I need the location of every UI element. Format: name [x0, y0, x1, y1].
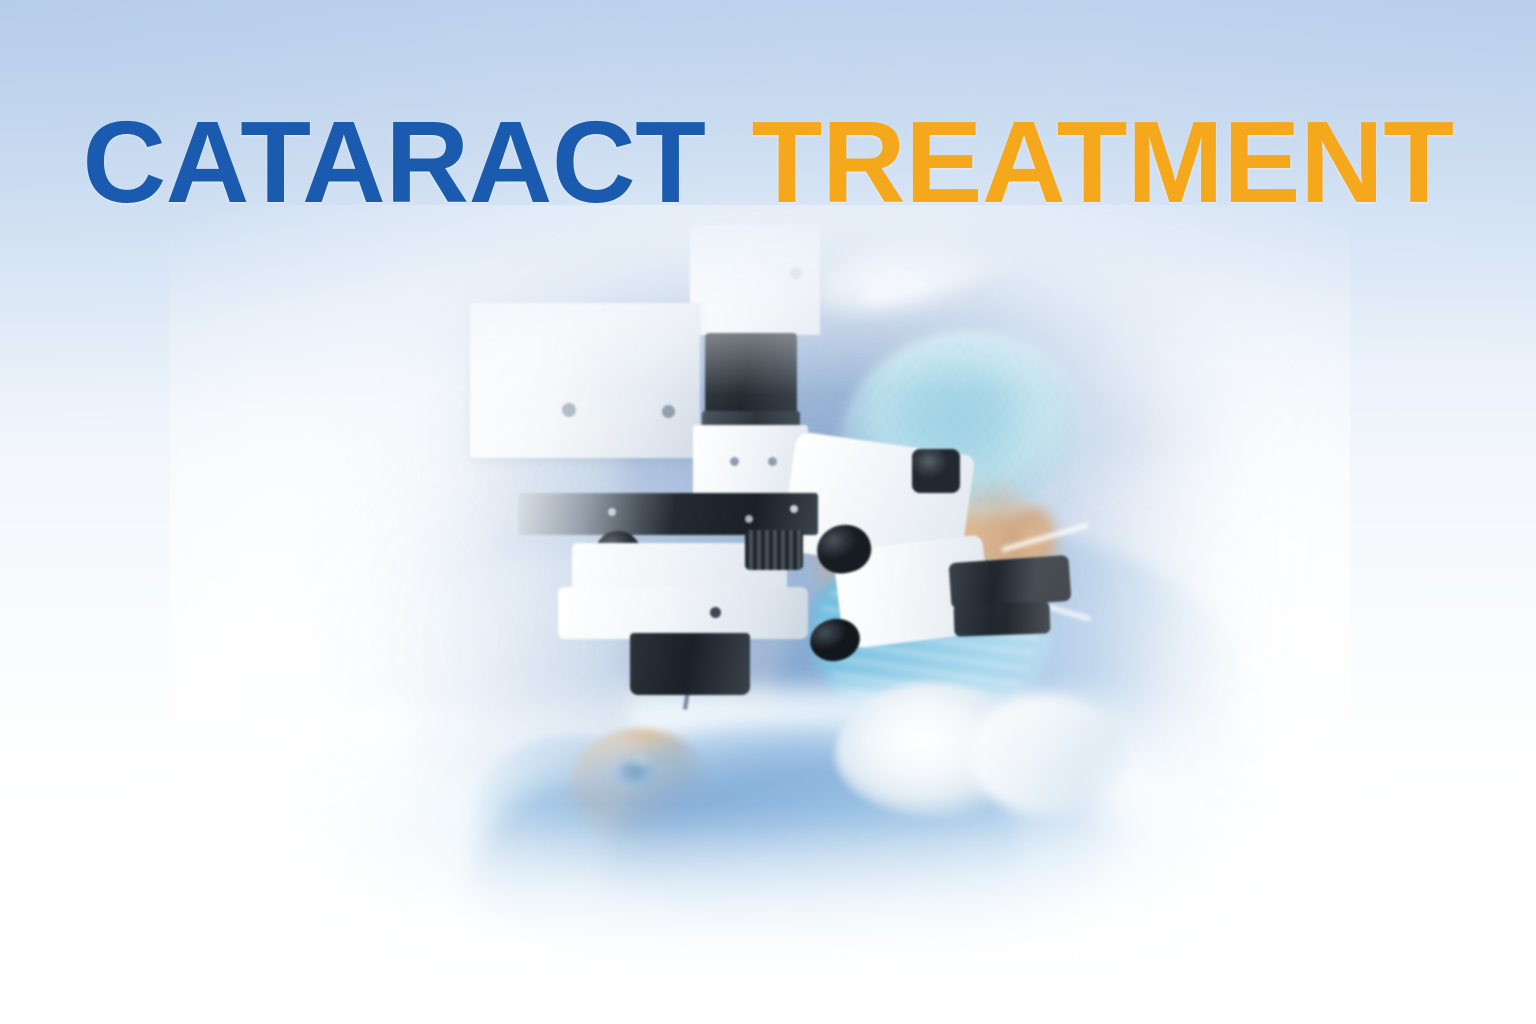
surgical-microscope: [290, 225, 970, 825]
objective-collar-screw: [710, 607, 721, 618]
microscope-upper-barrel: [705, 333, 797, 419]
drape-bottom-fade: [170, 805, 1350, 1024]
rail-screw-a: [608, 508, 616, 516]
housing-screw-right: [662, 405, 675, 418]
title-line: CATARACTTREATMENT: [0, 104, 1536, 220]
microscope-illuminator-housing: [470, 303, 700, 458]
title-word-primary: CATARACT: [82, 97, 705, 227]
microscope-column: [690, 225, 820, 335]
rail-screw-b: [745, 515, 753, 523]
microscope-xy-rail: [518, 493, 818, 535]
microscope-objective-lens: [630, 633, 750, 695]
microscope-eyepiece-tube-upper: [949, 555, 1072, 609]
optics-screw-left: [730, 457, 739, 466]
microscope-eyepiece-tube-lower: [953, 601, 1050, 636]
microscope-ridged-knob: [745, 530, 803, 570]
optics-screw-right: [768, 457, 777, 466]
microscope-column-screw: [790, 267, 802, 279]
cataract-treatment-banner: CATARACTTREATMENT: [0, 0, 1536, 1024]
rail-screw-c: [790, 505, 798, 513]
microscope-objective-collar: [558, 587, 808, 639]
surgery-photo: [170, 205, 1350, 1024]
housing-screw-left: [562, 403, 576, 417]
banner-title: CATARACTTREATMENT: [0, 0, 1536, 220]
microscope-arm-knob: [912, 449, 960, 493]
title-word-accent: TREATMENT: [751, 97, 1453, 227]
